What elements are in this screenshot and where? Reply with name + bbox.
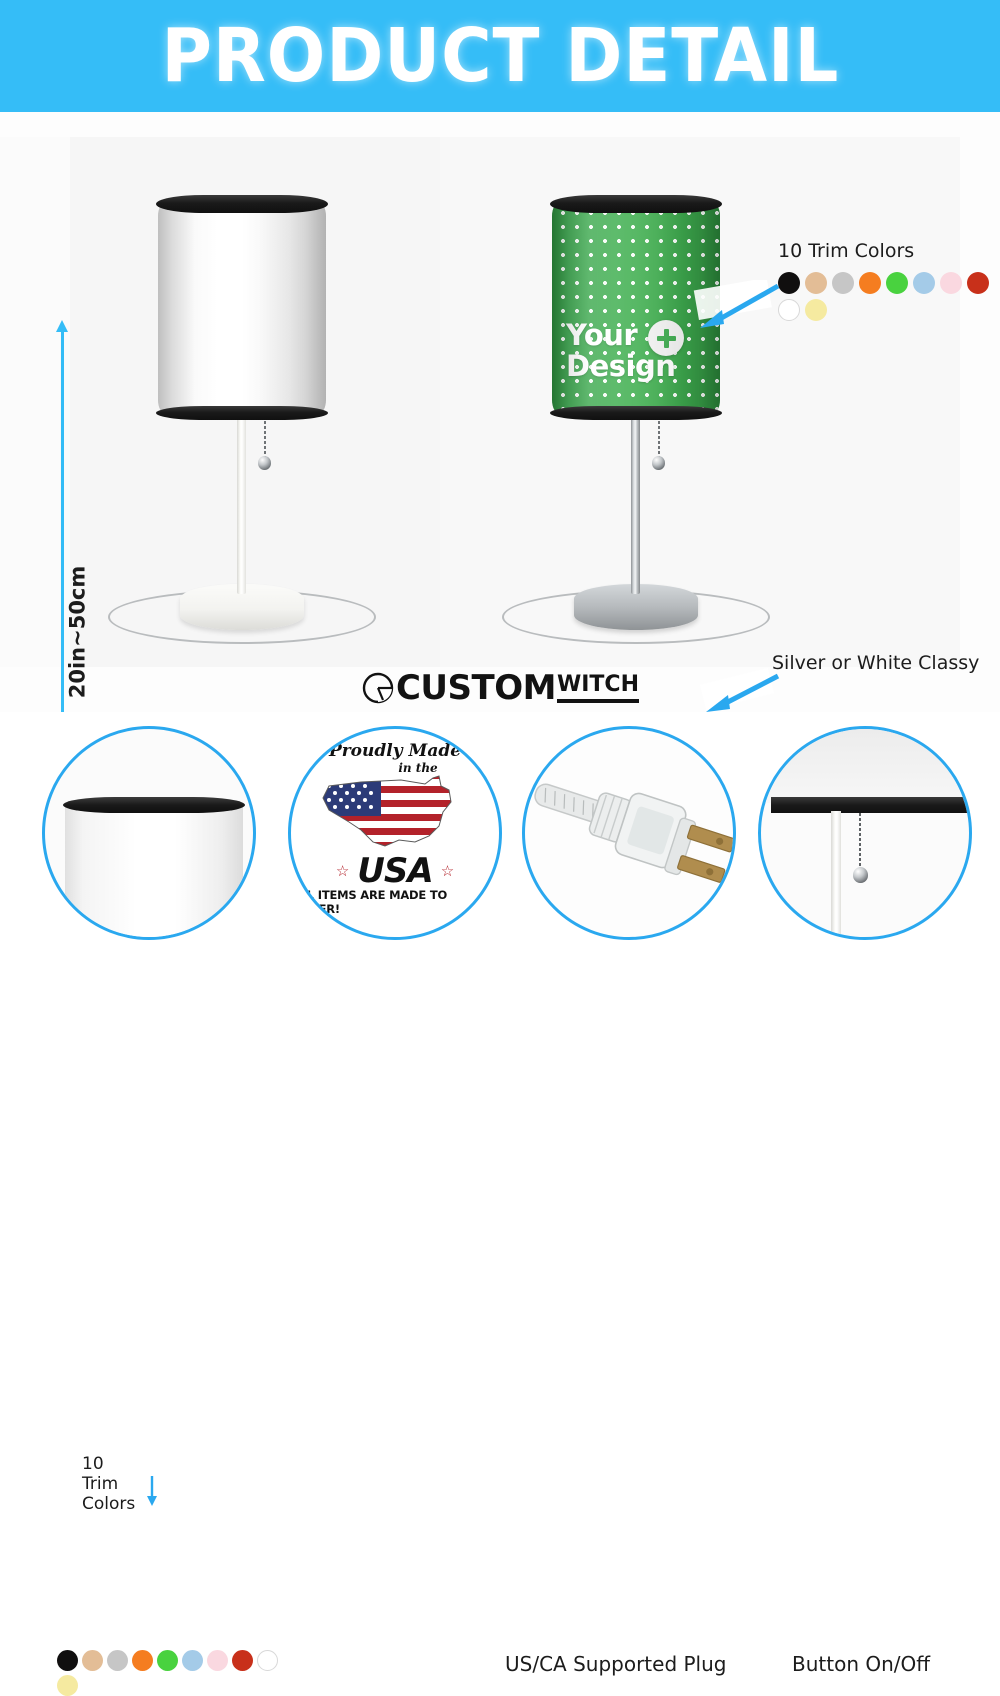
trim-swatch-light-blue[interactable] — [182, 1650, 203, 1671]
feature-panels: 10 Trim Colors Proudly Made in the — [0, 712, 1000, 1000]
usa-map-flag-icon — [315, 772, 475, 856]
pull-chain — [658, 416, 660, 460]
trim-swatch-gray[interactable] — [107, 1650, 128, 1671]
trim-colors-section-top: 10 Trim Colors — [778, 240, 1000, 321]
shade-preview — [65, 803, 243, 940]
star-icon-left: ☆ — [336, 862, 349, 880]
logo-witch-block: WITCH — [557, 673, 639, 703]
made-in-usa-circle: Proudly Made in the — [288, 726, 502, 940]
trim-swatch-pink[interactable] — [940, 272, 962, 294]
usa-badge-content: Proudly Made in the — [291, 729, 499, 937]
bottom-trim-swatches — [57, 1650, 287, 1696]
shade-trim-top — [156, 195, 328, 213]
product-stage: 7in~18cm 20in~50cm Your — [0, 112, 1000, 712]
trim-swatch-tan[interactable] — [82, 1650, 103, 1671]
trim-swatch-yellow[interactable] — [805, 299, 827, 321]
mini-trim-arrow — [145, 1474, 159, 1508]
trim-swatch-row — [57, 1650, 285, 1696]
shade-bottom-preview — [761, 729, 972, 803]
lamp-pole-preview — [831, 811, 841, 940]
trim-swatch-black[interactable] — [57, 1650, 78, 1671]
usa-subtitle: ALL ITEMS ARE MADE TO ORDER! — [291, 888, 499, 916]
header-banner: PRODUCT DETAIL — [0, 0, 1000, 112]
pull-chain-knob[interactable] — [853, 867, 868, 883]
usa-word: USA — [357, 854, 432, 888]
trim-swatch-green[interactable] — [157, 1650, 178, 1671]
logo-underline — [557, 699, 639, 703]
shade-trim-bottom — [550, 406, 722, 420]
trim-swatch-yellow[interactable] — [57, 1675, 78, 1696]
trim-colors-circle — [42, 726, 256, 940]
usa-line-1: Proudly Made — [329, 743, 461, 759]
shade-trim-bottom — [156, 406, 328, 420]
logo-c-mark-icon — [361, 671, 395, 705]
trim-colors-arrow — [692, 280, 788, 336]
trim-swatch-pink[interactable] — [207, 1650, 228, 1671]
trim-band-preview — [771, 797, 969, 813]
plus-icon[interactable] — [648, 320, 684, 356]
star-icon-right: ☆ — [441, 862, 454, 880]
pull-chain-knob[interactable] — [652, 456, 665, 470]
trim-swatch-light-blue[interactable] — [913, 272, 935, 294]
switch-caption: Button On/Off — [792, 1652, 930, 1676]
trim-swatch-row — [778, 272, 1000, 321]
trim-swatch-tan[interactable] — [805, 272, 827, 294]
shade-gloss — [158, 202, 326, 414]
lamp-shade-white — [158, 202, 326, 414]
trim-swatch-gray[interactable] — [832, 272, 854, 294]
trim-band-preview — [63, 797, 245, 813]
power-plug-icon — [525, 729, 736, 940]
trim-colors-title: 10 Trim Colors — [778, 240, 1000, 262]
trim-swatch-orange[interactable] — [132, 1650, 153, 1671]
plug-caption: US/CA Supported Plug — [505, 1652, 726, 1676]
page-title: PRODUCT DETAIL — [161, 13, 839, 99]
lamp-pole-silver — [631, 414, 640, 594]
shade-trim-top — [550, 195, 722, 213]
brand-logo: CUSTOM WITCH — [0, 664, 1000, 712]
logo-custom-text: CUSTOM — [396, 668, 556, 708]
usa-word-row: ☆ USA ☆ — [336, 854, 454, 888]
trim-swatch-red[interactable] — [232, 1650, 253, 1671]
mini-trim-colors-title: 10 Trim Colors — [82, 1454, 135, 1514]
trim-swatch-green[interactable] — [886, 272, 908, 294]
lamp-pole-white — [237, 414, 246, 594]
trim-swatch-black[interactable] — [778, 272, 800, 294]
logo-witch-text: WITCH — [557, 673, 639, 697]
pull-chain — [264, 416, 266, 460]
trim-swatch-white[interactable] — [257, 1650, 278, 1671]
pull-chain — [859, 813, 861, 869]
trim-swatch-red[interactable] — [967, 272, 989, 294]
switch-circle — [758, 726, 972, 940]
pull-chain-knob[interactable] — [258, 456, 271, 470]
plug-circle — [522, 726, 736, 940]
design-line-2: Design — [566, 351, 675, 382]
trim-swatch-orange[interactable] — [859, 272, 881, 294]
trim-swatch-white[interactable] — [778, 299, 800, 321]
